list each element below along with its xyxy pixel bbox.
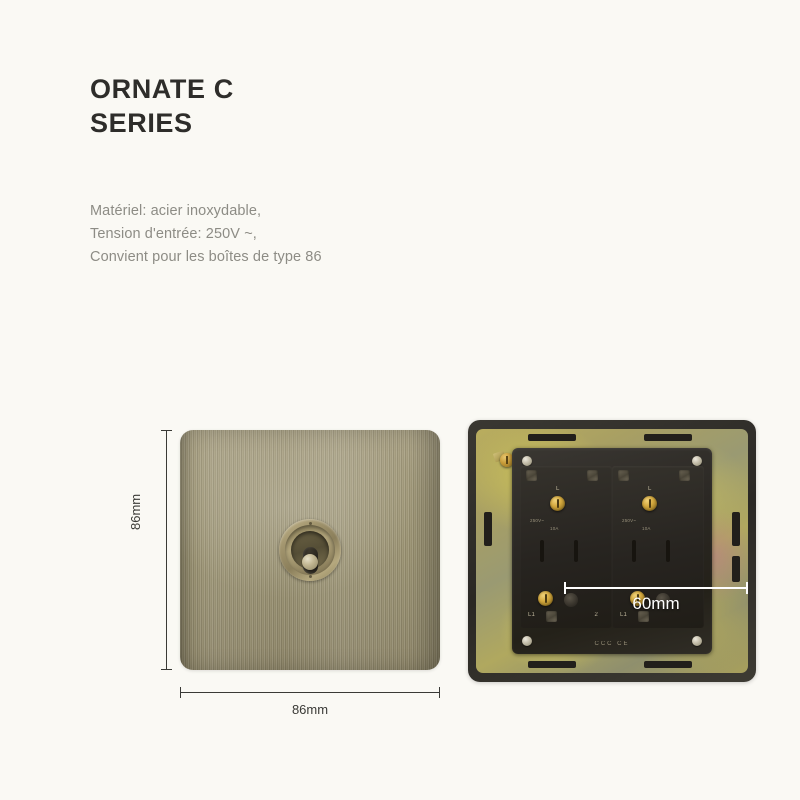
page-title: ORNATE C SERIES: [90, 72, 234, 140]
height-dimension-label: 86mm: [128, 494, 143, 530]
back-view-image: L 250V~ 10A L1 2 L 250V~ 10A: [468, 420, 756, 682]
bezel-screw-bottom-icon: [309, 575, 312, 578]
module-slot-right-a: [632, 540, 636, 562]
toggle-bezel-inner: [291, 531, 329, 569]
rating-text-right: 250V~: [622, 518, 636, 523]
module-rivet-top-left: [522, 456, 532, 466]
module-slot-right-b: [666, 540, 670, 562]
terminal-screw-left-top: [550, 496, 565, 511]
mounting-dimension-line: [564, 587, 748, 589]
yoke-slot-right-lower: [732, 556, 740, 582]
front-view-image: [180, 430, 440, 670]
mounting-dimension-label: 60mm: [564, 594, 748, 614]
current-text-right: 10A: [642, 526, 651, 531]
yoke-slot-bottom-right: [644, 661, 692, 668]
module-slot-left-b: [574, 540, 578, 562]
yoke-slot-right: [732, 512, 740, 546]
width-dimension-line: [180, 692, 440, 693]
height-dimension-line: [166, 430, 167, 670]
rating-text-left: 250V~: [530, 518, 544, 523]
switch-module-body: L 250V~ 10A L1 2 L 250V~ 10A: [512, 448, 712, 654]
terminal-label-L-left: L: [556, 486, 560, 492]
clamp-screw-right-b: [679, 470, 690, 481]
bezel-screw-top-icon: [309, 522, 312, 525]
toggle-lever-knob[interactable]: [302, 554, 318, 570]
product-spec-page: ORNATE C SERIES Matériel: acier inoxydab…: [0, 0, 800, 800]
certification-marks: CCC CE: [512, 641, 712, 647]
terminal-screw-right-top: [642, 496, 657, 511]
yoke-slot-top-left: [528, 434, 576, 441]
current-text-left: 10A: [550, 526, 559, 531]
terminal-label-L-right: L: [648, 486, 652, 492]
clamp-screw-right-a: [618, 470, 629, 481]
clamp-screw-left-b: [587, 470, 598, 481]
width-dimension-label: 86mm: [180, 702, 440, 717]
yoke-slot-bottom-left: [528, 661, 576, 668]
clamp-screw-left-c: [546, 611, 557, 622]
yoke-slot-top-right: [644, 434, 692, 441]
clamp-screw-left-a: [526, 470, 537, 481]
toggle-switch-assembly[interactable]: [279, 519, 341, 581]
yoke-slot-left: [484, 512, 492, 546]
terminal-screw-left-bottom: [538, 591, 553, 606]
terminal-label-L1-left: L1: [528, 612, 535, 618]
module-rivet-top-right: [692, 456, 702, 466]
module-slot-left-a: [540, 540, 544, 562]
product-specs-text: Matériel: acier inoxydable, Tension d'en…: [90, 200, 322, 269]
